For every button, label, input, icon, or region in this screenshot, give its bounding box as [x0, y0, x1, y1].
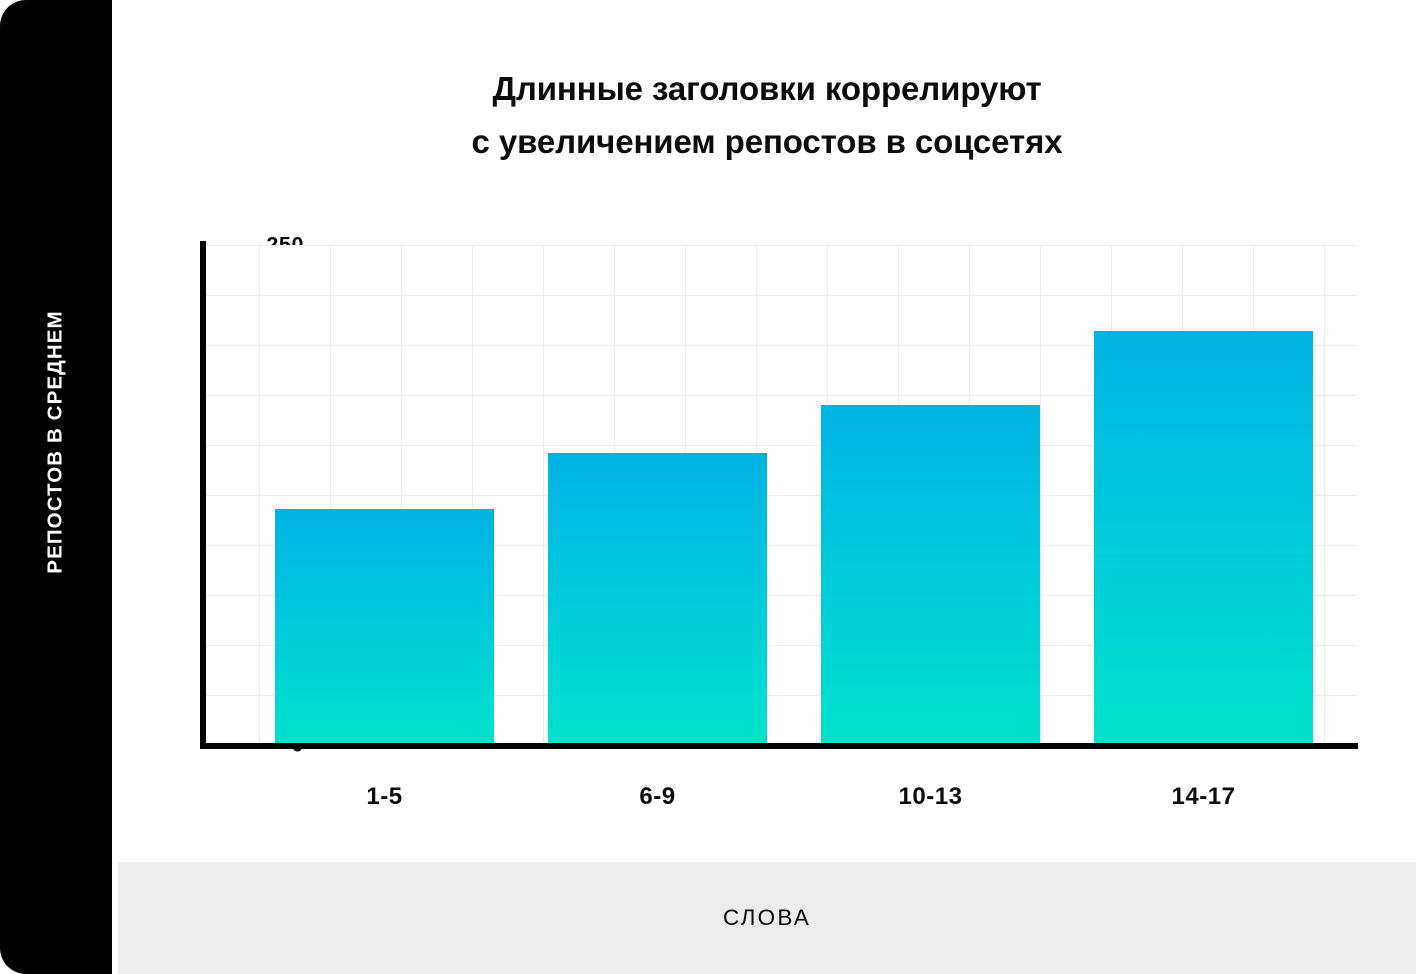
- gridline-horizontal: [205, 245, 1357, 246]
- left-rail: РЕПОСТОВ В СРЕДНЕМ: [0, 0, 112, 974]
- gridline-vertical: [1324, 245, 1325, 745]
- plot-wrapper: 0 50 100 150 200 250: [118, 0, 1416, 974]
- x-axis-line: [200, 743, 1358, 749]
- chart-card: Длинные заголовки коррелируют с увеличен…: [118, 0, 1416, 974]
- infographic-card: РЕПОСТОВ В СРЕДНЕМ Длинные заголовки кор…: [0, 0, 1416, 974]
- plot-area: [205, 245, 1357, 745]
- x-tick-label-14-17: 14-17: [1094, 783, 1313, 811]
- gridline-vertical: [259, 245, 260, 745]
- gridline-vertical: [543, 245, 544, 745]
- x-tick-label-10-13: 10-13: [821, 783, 1040, 811]
- footer-band: СЛОВА: [118, 862, 1416, 974]
- x-axis-title: СЛОВА: [723, 905, 811, 931]
- bar-6-9[interactable]: [548, 453, 767, 745]
- x-tick-label-1-5: 1-5: [275, 783, 494, 811]
- y-axis-title-label: РЕПОСТОВ В СРЕДНЕМ: [44, 310, 68, 573]
- gridline-vertical: [1040, 245, 1041, 745]
- x-tick-label-6-9: 6-9: [548, 783, 767, 811]
- bar-14-17[interactable]: [1094, 331, 1313, 745]
- y-axis-title: РЕПОСТОВ В СРЕДНЕМ: [0, 0, 112, 974]
- y-axis-line: [200, 241, 206, 749]
- bar-1-5[interactable]: [275, 509, 494, 745]
- gridline-horizontal: [205, 295, 1357, 296]
- bar-10-13[interactable]: [821, 405, 1040, 745]
